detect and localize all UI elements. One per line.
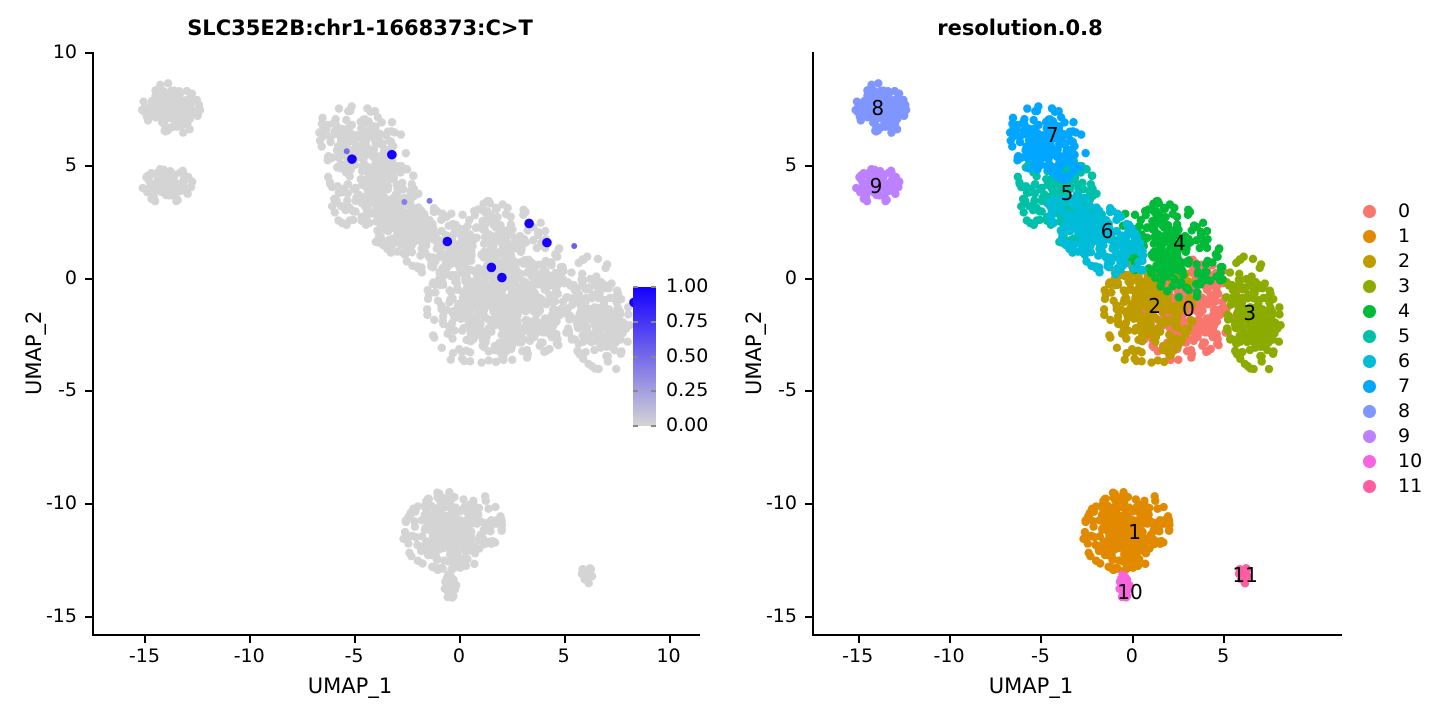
x-tick-mark <box>669 636 671 643</box>
y-tick-mark <box>85 616 92 618</box>
panel-cluster-plot: resolution.0.8 -15-10-505-15-10-50501234… <box>720 0 1440 720</box>
x-tick-mark <box>1132 636 1134 643</box>
y-tick-label: 5 <box>734 154 797 176</box>
legend-color-swatch <box>1363 255 1376 268</box>
legend-color-swatch <box>1363 205 1376 218</box>
x-tick-label: 0 <box>1102 645 1162 667</box>
colorbar-tick-label: 1.00 <box>666 275 708 297</box>
x-axis-line <box>812 634 1342 636</box>
legend-color-swatch <box>1363 305 1376 318</box>
legend-item-0[interactable]: 0 <box>1353 199 1422 224</box>
legend-color-swatch <box>1363 230 1376 243</box>
x-tick-label: -5 <box>324 645 384 667</box>
x-axis-line <box>92 634 700 636</box>
y-tick-mark <box>85 52 92 54</box>
x-tick-mark <box>144 636 146 643</box>
legend-item-6[interactable]: 6 <box>1353 349 1422 374</box>
y-tick-mark <box>85 165 92 167</box>
legend-item-label: 2 <box>1398 252 1410 271</box>
legend-item-label: 3 <box>1398 277 1410 296</box>
left-y-axis-label: UMAP_2 <box>22 311 46 395</box>
colorbar-tick-mark <box>651 425 656 427</box>
left-scatter-svg <box>0 0 720 660</box>
y-tick-label: -10 <box>14 492 77 514</box>
right-y-axis-label: UMAP_2 <box>742 311 766 395</box>
cluster-legend[interactable]: 01234567891011 <box>1353 199 1422 499</box>
colorbar-tick-label: 0.25 <box>666 379 708 401</box>
colorbar-tick-mark <box>651 390 656 392</box>
legend-item-5[interactable]: 5 <box>1353 324 1422 349</box>
x-tick-label: -5 <box>1010 645 1070 667</box>
colorbar-tick-mark <box>651 286 656 288</box>
legend-item-9[interactable]: 9 <box>1353 424 1422 449</box>
y-tick-label: -10 <box>734 492 797 514</box>
y-tick-mark <box>805 390 812 392</box>
colorbar-tick-mark <box>651 321 656 323</box>
panel-feature-plot: SLC35E2B:chr1-1668373:C>T -15-10-50510-1… <box>0 0 720 720</box>
legend-item-1[interactable]: 1 <box>1353 224 1422 249</box>
y-tick-label: 5 <box>14 154 77 176</box>
legend-item-label: 1 <box>1398 227 1410 246</box>
legend-color-swatch <box>1363 355 1376 368</box>
legend-item-2[interactable]: 2 <box>1353 249 1422 274</box>
x-tick-label: -10 <box>919 645 979 667</box>
y-tick-label: 0 <box>14 267 77 289</box>
y-tick-mark <box>805 616 812 618</box>
x-tick-mark <box>564 636 566 643</box>
x-tick-mark <box>1223 636 1225 643</box>
colorbar-tick-mark <box>633 286 638 288</box>
colorbar-tick-mark <box>633 425 638 427</box>
colorbar-tick-label: 0.75 <box>666 310 708 332</box>
x-tick-mark <box>249 636 251 643</box>
legend-item-4[interactable]: 4 <box>1353 299 1422 324</box>
legend-item-label: 11 <box>1398 477 1422 496</box>
legend-item-label: 10 <box>1398 452 1422 471</box>
y-tick-mark <box>85 278 92 280</box>
y-tick-mark <box>805 503 812 505</box>
y-axis-line <box>92 52 94 634</box>
legend-color-swatch <box>1363 330 1376 343</box>
left-plot-area: -15-10-50510-15-10-50510 <box>0 0 720 660</box>
y-tick-label: 0 <box>734 267 797 289</box>
y-tick-mark <box>85 503 92 505</box>
legend-item-10[interactable]: 10 <box>1353 449 1422 474</box>
umap-figure: SLC35E2B:chr1-1668373:C>T -15-10-50510-1… <box>0 0 1440 720</box>
legend-item-label: 0 <box>1398 202 1410 221</box>
x-tick-label: 5 <box>1193 645 1253 667</box>
legend-item-label: 9 <box>1398 427 1410 446</box>
legend-item-11[interactable]: 11 <box>1353 474 1422 499</box>
colorbar-tick-mark <box>651 356 656 358</box>
y-tick-label: -15 <box>14 605 77 627</box>
legend-color-swatch <box>1363 280 1376 293</box>
x-tick-label: 5 <box>534 645 594 667</box>
y-tick-mark <box>85 390 92 392</box>
colorbar-tick-mark <box>633 321 638 323</box>
x-tick-mark <box>949 636 951 643</box>
x-tick-mark <box>858 636 860 643</box>
legend-color-swatch <box>1363 455 1376 468</box>
x-tick-mark <box>1040 636 1042 643</box>
colorbar-tick-mark <box>633 390 638 392</box>
legend-item-label: 4 <box>1398 302 1410 321</box>
x-tick-label: -10 <box>219 645 279 667</box>
x-tick-label: -15 <box>828 645 888 667</box>
y-tick-mark <box>805 165 812 167</box>
right-scatter-svg <box>720 0 1440 660</box>
legend-item-label: 5 <box>1398 327 1410 346</box>
x-tick-label: -15 <box>114 645 174 667</box>
y-tick-label: 10 <box>14 41 77 63</box>
legend-color-swatch <box>1363 380 1376 393</box>
legend-item-8[interactable]: 8 <box>1353 399 1422 424</box>
legend-item-label: 6 <box>1398 352 1410 371</box>
legend-color-swatch <box>1363 405 1376 418</box>
colorbar-tick-label: 0.00 <box>666 414 708 436</box>
colorbar-tick-label: 0.50 <box>666 345 708 367</box>
y-tick-mark <box>805 278 812 280</box>
y-axis-line <box>812 52 814 634</box>
legend-color-swatch <box>1363 430 1376 443</box>
legend-item-7[interactable]: 7 <box>1353 374 1422 399</box>
legend-item-3[interactable]: 3 <box>1353 274 1422 299</box>
x-tick-label: 0 <box>429 645 489 667</box>
legend-item-label: 7 <box>1398 377 1410 396</box>
x-tick-label: 10 <box>639 645 699 667</box>
legend-color-swatch <box>1363 480 1376 493</box>
x-tick-mark <box>354 636 356 643</box>
x-tick-mark <box>459 636 461 643</box>
right-x-axis-label: UMAP_1 <box>720 674 1342 698</box>
right-plot-area: -15-10-505-15-10-50501234567891011 <box>720 0 1440 660</box>
left-x-axis-label: UMAP_1 <box>0 674 700 698</box>
colorbar-tick-mark <box>633 356 638 358</box>
legend-item-label: 8 <box>1398 402 1410 421</box>
y-tick-label: -15 <box>734 605 797 627</box>
